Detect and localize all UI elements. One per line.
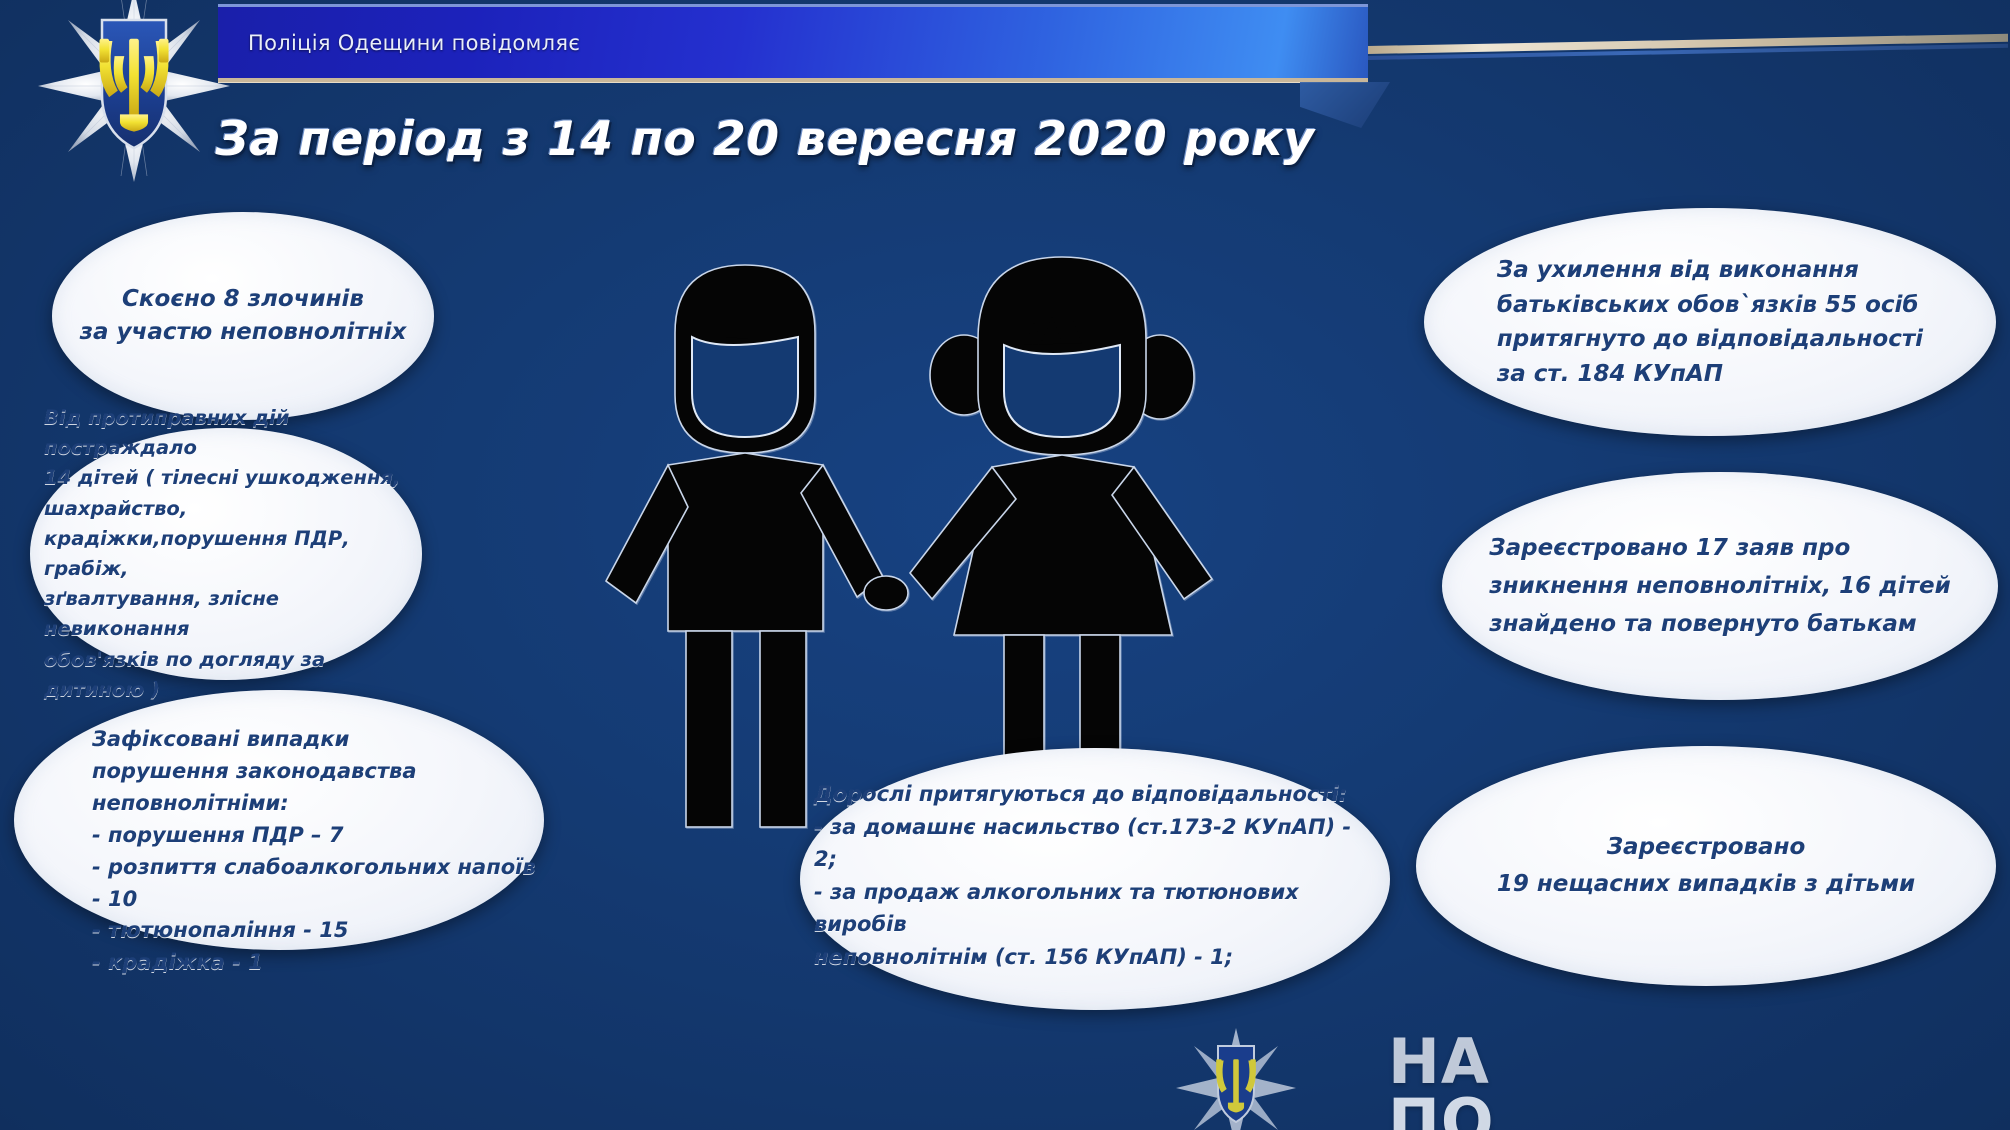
watermark-line-1: НА [1388, 1032, 1495, 1092]
stat-bubble-missing-minors: Зареєстровано 17 заяв про зникнення непо… [1442, 472, 1998, 700]
header-banner-title: Поліція Одещини повідомляє [218, 31, 580, 55]
watermark-text: НА ПО [1388, 1032, 1495, 1130]
stat-bubble-missing-minors-text: Зареєстровано 17 заяв про зникнення непо… [1473, 529, 1966, 644]
stat-bubble-crimes-text: Скоєно 8 злочинів за участю неповнолітні… [80, 283, 407, 348]
page-title: За період з 14 по 20 вересня 2020 року [0, 112, 1530, 167]
infographic-poster: Поліція Одещини повідомляє [0, 0, 2010, 1130]
girl-silhouette [910, 257, 1212, 827]
watermark-police-emblem-icon [1172, 1024, 1300, 1130]
stat-bubble-parental-duties-text: За ухилення від виконання батьківських о… [1481, 253, 1939, 391]
boy-silhouette [606, 265, 908, 827]
stat-bubble-violations-text: Зафіксовані випадки порушення законодавс… [14, 724, 544, 979]
stat-bubble-adult-liability: Дорослі притягуються до відповідальності… [800, 748, 1390, 1010]
stat-bubble-crimes: Скоєно 8 злочинів за участю неповнолітні… [52, 212, 434, 420]
stat-bubble-accidents-text: Зареєстровано 19 нещасних випадків з діт… [1497, 829, 1915, 903]
stat-bubble-accidents: Зареєстровано 19 нещасних випадків з діт… [1416, 746, 1996, 986]
stat-bubble-adult-liability-text: Дорослі притягуються до відповідальності… [800, 778, 1390, 973]
header-banner: Поліція Одещини повідомляє [218, 4, 1368, 82]
stat-bubble-violations: Зафіксовані випадки порушення законодавс… [14, 690, 544, 950]
watermark-line-2: ПО [1388, 1092, 1495, 1130]
stat-bubble-parental-duties: За ухилення від виконання батьківських о… [1424, 208, 1996, 436]
stat-bubble-victims: Від протиправних дій постраждало 14 діте… [30, 428, 422, 680]
stat-bubble-victims-text: Від протиправних дій постраждало 14 діте… [30, 403, 422, 705]
